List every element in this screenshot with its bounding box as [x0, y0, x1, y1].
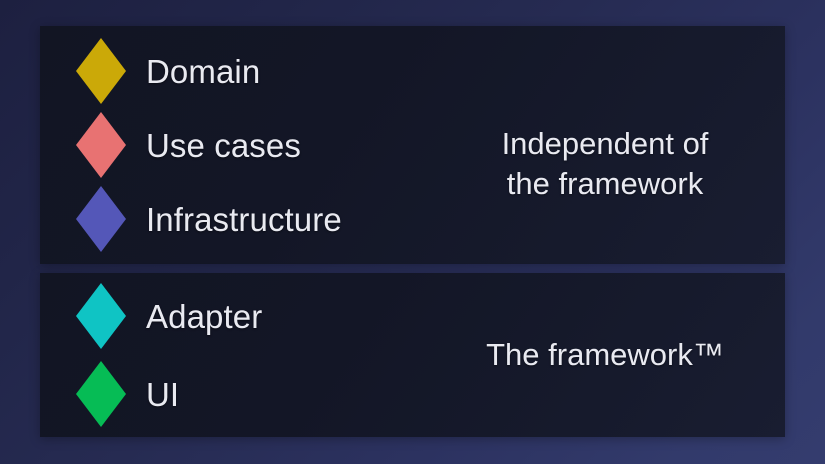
diamond-icon-adapter-wrap	[72, 282, 130, 350]
diamond-icon-infrastructure-wrap	[72, 185, 130, 253]
diamond-icon	[76, 38, 126, 104]
legend-item-label: Domain	[146, 55, 260, 88]
legend-item-use-cases[interactable]: Use cases	[72, 114, 402, 176]
slide-canvas: Domain Use cases Infrastructure Independ…	[0, 0, 825, 464]
diamond-icon	[76, 283, 126, 349]
diamond-icon-use-cases-wrap	[72, 111, 130, 179]
legend-item-label: Use cases	[146, 129, 301, 162]
diamond-icon-ui-wrap	[72, 360, 130, 428]
framework-panel-inner: Adapter UI The framework™	[40, 273, 785, 437]
independent-panel-caption: Independent of the framework	[440, 124, 770, 203]
legend-item-infrastructure[interactable]: Infrastructure	[72, 188, 402, 250]
framework-panel: Adapter UI The framework™	[40, 273, 785, 437]
diamond-icon	[76, 112, 126, 178]
legend-item-adapter[interactable]: Adapter	[72, 285, 402, 347]
legend-item-label: Adapter	[146, 300, 262, 333]
legend-item-label: Infrastructure	[146, 203, 342, 236]
diamond-icon	[76, 186, 126, 252]
legend-item-domain[interactable]: Domain	[72, 40, 402, 102]
diamond-icon-domain-wrap	[72, 37, 130, 105]
diamond-icon	[76, 361, 126, 427]
framework-legend-list: Adapter UI	[72, 273, 402, 437]
framework-panel-caption: The framework™	[440, 335, 770, 375]
legend-item-label: UI	[146, 378, 179, 411]
independent-panel-inner: Domain Use cases Infrastructure Independ…	[40, 26, 785, 264]
independent-panel: Domain Use cases Infrastructure Independ…	[40, 26, 785, 264]
legend-item-ui[interactable]: UI	[72, 363, 402, 425]
independent-legend-list: Domain Use cases Infrastructure	[72, 26, 402, 264]
